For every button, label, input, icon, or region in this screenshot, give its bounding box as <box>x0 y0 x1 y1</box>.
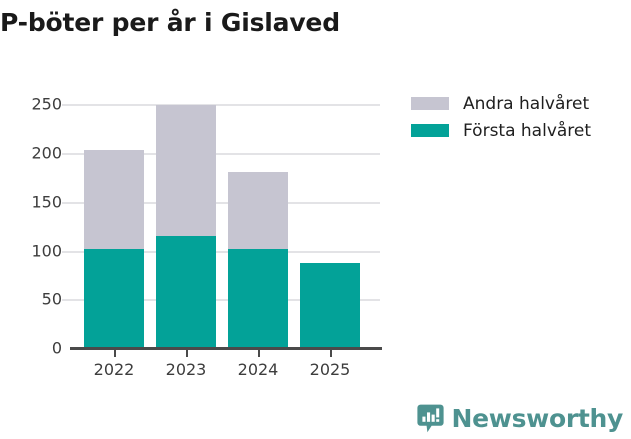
y-tickmark-200 <box>62 153 70 155</box>
bar-segment-first-half-2022[interactable] <box>84 249 144 348</box>
legend-swatch-icon <box>411 124 449 137</box>
bar-segment-second-half-2022[interactable] <box>84 150 144 249</box>
y-axis-labels: 250 200 150 100 50 0 <box>0 0 62 439</box>
legend-item-forsta-halvaret[interactable]: Första halvåret <box>411 117 591 144</box>
y-tick-label: 0 <box>0 339 62 358</box>
legend-item-label: Första halvåret <box>463 121 591 141</box>
x-tick-label-2023: 2023 <box>166 360 207 379</box>
x-axis-line <box>70 347 382 350</box>
brand-name: Newsworthy <box>452 404 624 433</box>
x-tickmark-2024 <box>258 349 260 357</box>
bar-segment-second-half-2024[interactable] <box>228 172 288 249</box>
chart-page: P-böter per år i Gislaved 250 200 150 10… <box>0 0 631 439</box>
x-tickmark-2023 <box>186 349 188 357</box>
legend-item-label: Andra halvåret <box>463 94 589 114</box>
y-tickmark-50 <box>62 299 70 301</box>
y-tick-label: 200 <box>0 144 62 163</box>
y-tickmark-250 <box>62 104 70 106</box>
bar-segment-first-half-2023[interactable] <box>156 236 216 348</box>
y-tick-label: 100 <box>0 242 62 261</box>
bar-segment-first-half-2024[interactable] <box>228 249 288 348</box>
legend: Andra halvåret Första halvåret <box>411 90 591 144</box>
bar-segment-second-half-2023[interactable] <box>156 105 216 236</box>
y-tick-label: 250 <box>0 95 62 114</box>
y-tickmark-100 <box>62 251 70 253</box>
legend-swatch-icon <box>411 97 449 110</box>
bar-segment-first-half-2025[interactable] <box>300 263 360 348</box>
x-tick-label-2024: 2024 <box>238 360 279 379</box>
x-tick-label-2025: 2025 <box>310 360 351 379</box>
x-tick-label-2022: 2022 <box>94 360 135 379</box>
y-tick-label: 150 <box>0 193 62 212</box>
legend-item-andra-halvaret[interactable]: Andra halvåret <box>411 90 591 117</box>
x-tickmark-2022 <box>114 349 116 357</box>
bar-chart-speech-bubble-icon <box>417 404 444 433</box>
plot-area <box>70 104 380 349</box>
footer-branding: Newsworthy <box>417 404 624 433</box>
y-tickmark-150 <box>62 202 70 204</box>
x-tickmark-2025 <box>330 349 332 357</box>
gridline-250 <box>70 104 380 106</box>
y-tick-label: 50 <box>0 290 62 309</box>
